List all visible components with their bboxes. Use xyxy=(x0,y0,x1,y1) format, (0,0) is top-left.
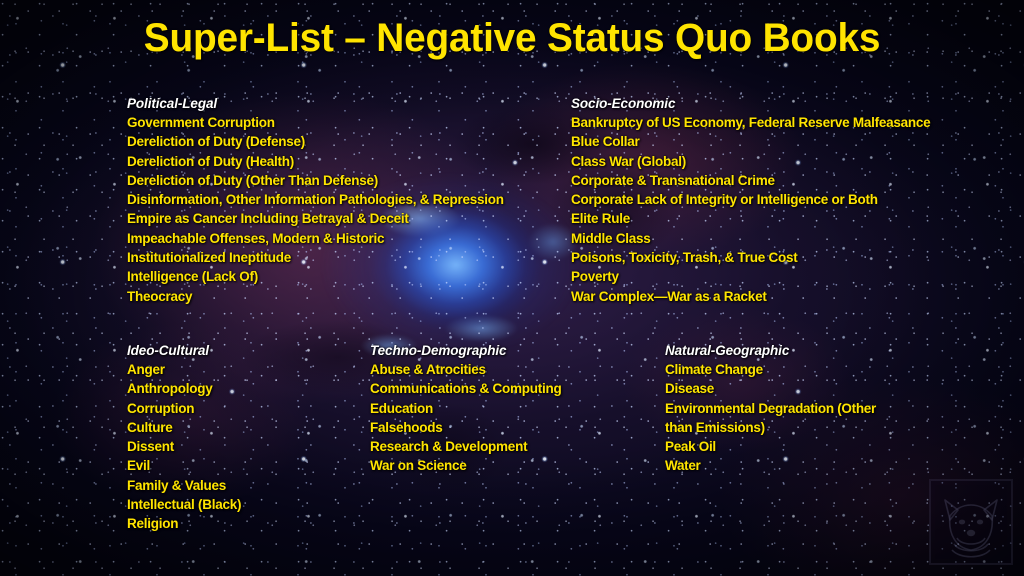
list-item: Anger xyxy=(127,360,367,379)
column-socio-economic: Socio-Economic Bankruptcy of US Economy,… xyxy=(571,94,971,306)
list-item: Religion xyxy=(127,514,367,533)
column-heading-political-legal: Political-Legal xyxy=(127,94,547,113)
list-item: War on Science xyxy=(370,456,660,475)
column-heading-techno-demographic: Techno-Demographic xyxy=(370,341,660,360)
list-item: Family & Values xyxy=(127,476,367,495)
list-item: Middle Class xyxy=(571,229,971,248)
list-item: Environmental Degradation (Other than Em… xyxy=(665,399,905,438)
list-item: Disinformation, Other Information Pathol… xyxy=(127,190,547,209)
list-natural-geographic: Climate Change Disease Environmental Deg… xyxy=(665,360,905,476)
fox-head-logo-icon xyxy=(928,476,1014,568)
column-heading-ideo-cultural: Ideo-Cultural xyxy=(127,341,367,360)
list-item: Dissent xyxy=(127,437,367,456)
list-item: Disease xyxy=(665,379,905,398)
list-item: Elite Rule xyxy=(571,209,971,228)
list-item: Corruption xyxy=(127,399,367,418)
list-socio-economic: Bankruptcy of US Economy, Federal Reserv… xyxy=(571,113,971,306)
list-ideo-cultural: Anger Anthropology Corruption Culture Di… xyxy=(127,360,367,534)
list-item: Dereliction of Duty (Health) xyxy=(127,152,547,171)
column-political-legal: Political-Legal Government Corruption De… xyxy=(127,94,547,306)
list-techno-demographic: Abuse & Atrocities Communications & Comp… xyxy=(370,360,660,476)
list-item: Impeachable Offenses, Modern & Historic xyxy=(127,229,547,248)
slide-title: Super-List – Negative Status Quo Books xyxy=(15,16,1008,61)
list-item: Institutionalized Ineptitude xyxy=(127,248,547,267)
list-item: Culture xyxy=(127,418,367,437)
list-item: Bankruptcy of US Economy, Federal Reserv… xyxy=(571,113,971,132)
list-item: Corporate & Transnational Crime xyxy=(571,171,971,190)
list-item: Falsehoods xyxy=(370,418,660,437)
list-item: Research & Development xyxy=(370,437,660,456)
list-item: Empire as Cancer Including Betrayal & De… xyxy=(127,209,547,228)
list-item: Climate Change xyxy=(665,360,905,379)
list-item: Corporate Lack of Integrity or Intellige… xyxy=(571,190,971,209)
list-item: Dereliction of Duty (Other Than Defense) xyxy=(127,171,547,190)
list-item: Government Corruption xyxy=(127,113,547,132)
column-ideo-cultural: Ideo-Cultural Anger Anthropology Corrupt… xyxy=(127,341,367,534)
list-item: Peak Oil xyxy=(665,437,905,456)
list-political-legal: Government Corruption Dereliction of Dut… xyxy=(127,113,547,306)
list-item: Poverty xyxy=(571,267,971,286)
list-item: Evil xyxy=(127,456,367,475)
list-item: Class War (Global) xyxy=(571,152,971,171)
list-item: Abuse & Atrocities xyxy=(370,360,660,379)
list-item: Intelligence (Lack Of) xyxy=(127,267,547,286)
column-natural-geographic: Natural-Geographic Climate Change Diseas… xyxy=(665,341,905,476)
list-item: Poisons, Toxicity, Trash, & True Cost xyxy=(571,248,971,267)
column-techno-demographic: Techno-Demographic Abuse & Atrocities Co… xyxy=(370,341,660,476)
slide-canvas: Super-List – Negative Status Quo Books P… xyxy=(0,0,1024,576)
list-item: Dereliction of Duty (Defense) xyxy=(127,132,547,151)
list-item: War Complex—War as a Racket xyxy=(571,287,971,306)
list-item: Education xyxy=(370,399,660,418)
column-heading-socio-economic: Socio-Economic xyxy=(571,94,971,113)
list-item: Anthropology xyxy=(127,379,367,398)
list-item: Blue Collar xyxy=(571,132,971,151)
list-item: Intellectual (Black) xyxy=(127,495,367,514)
list-item: Water xyxy=(665,456,905,475)
column-heading-natural-geographic: Natural-Geographic xyxy=(665,341,905,360)
list-item: Theocracy xyxy=(127,287,547,306)
list-item: Communications & Computing xyxy=(370,379,660,398)
